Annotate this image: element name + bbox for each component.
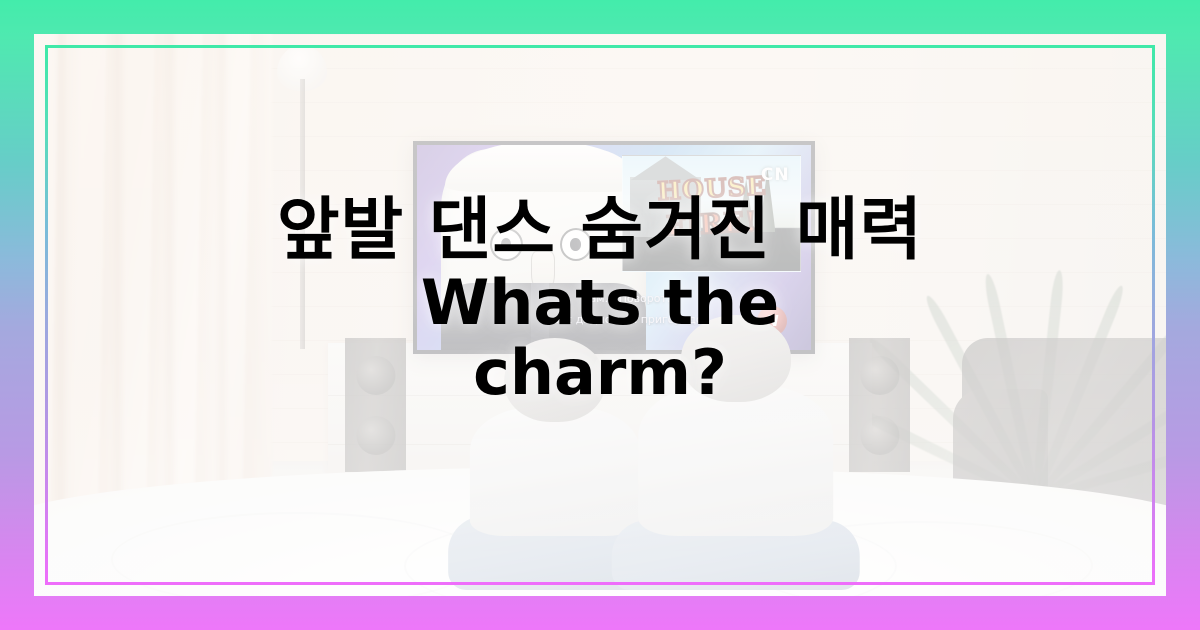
headline-line-korean: 앞발 댄스 숨겨진 매력 (0, 196, 1200, 265)
thumbnail-card: HOUSE FIRE! CN нам... Поворот... ми с дя… (0, 0, 1200, 630)
cn-network-bug: CN (761, 165, 790, 185)
headline-line-english-2: charm? (0, 341, 1200, 404)
headline-line-english-1: Whats the (0, 271, 1200, 334)
headline: 앞발 댄스 숨겨진 매력 Whats the charm? (0, 196, 1200, 404)
